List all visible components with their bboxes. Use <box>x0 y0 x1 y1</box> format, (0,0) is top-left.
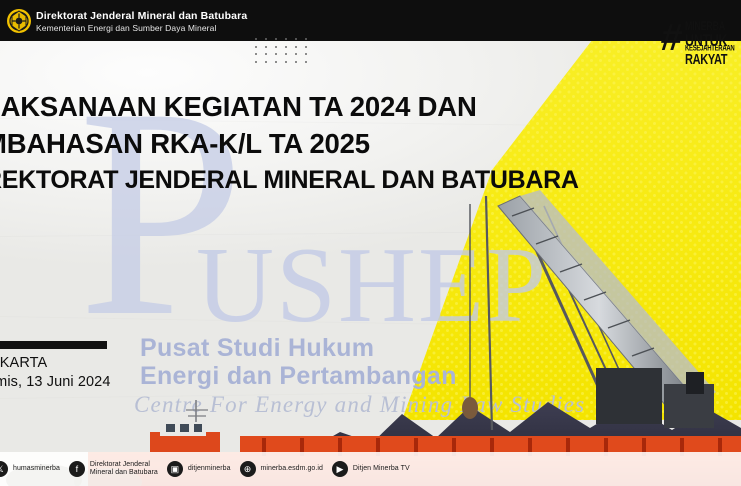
grid-dot <box>305 38 307 40</box>
grid-dot <box>275 38 277 40</box>
social-label: ditjenminerba <box>188 465 231 474</box>
grid-dot <box>255 38 257 40</box>
event-date: amis, 13 Juni 2024 <box>0 374 111 390</box>
social-media-footer: 𝕏humasminerbafDirektorat Jenderal Minera… <box>0 452 741 486</box>
grid-dot <box>295 61 297 63</box>
grid-dot <box>275 53 277 55</box>
twitter-x-icon[interactable]: 𝕏 <box>0 461 8 477</box>
social-item[interactable]: fDirektorat Jenderal Mineral dan Batubar… <box>69 461 158 478</box>
globe-icon[interactable]: ⊕ <box>240 461 256 477</box>
grid-dot <box>275 61 277 63</box>
grid-dot <box>305 61 307 63</box>
youtube-play-icon[interactable]: ▶ <box>332 461 348 477</box>
social-item[interactable]: ⊕minerba.esdm.go.id <box>240 461 323 477</box>
title-divider-rule <box>0 341 107 349</box>
grid-dot <box>285 46 287 48</box>
minerba-hashtag-badge: # MINERBA UNTUK KESEJAHTERAAN RAKYAT <box>661 13 733 63</box>
yellow-beam-graphic <box>0 0 741 486</box>
social-label: Ditjen Minerba TV <box>353 465 410 474</box>
grid-dot <box>285 61 287 63</box>
slide-header-bar: Direktorat Jenderal Mineral dan Batubara… <box>0 0 741 41</box>
grid-dot <box>285 38 287 40</box>
facebook-icon[interactable]: f <box>69 461 85 477</box>
social-label: Direktorat Jenderal Mineral dan Batubara <box>90 461 158 478</box>
grid-dot <box>295 46 297 48</box>
title-line-2: MBAHASAN RKA-K/L TA 2025 <box>0 125 584 162</box>
ministry-name: Kementerian Energi dan Sumber Daya Miner… <box>36 23 216 33</box>
grid-dot <box>295 53 297 55</box>
grid-dot <box>275 46 277 48</box>
esdm-emblem-icon <box>6 8 32 34</box>
ministry-directorate-name: Direktorat Jenderal Mineral dan Batubara <box>36 10 247 22</box>
title-line-1: LAKSANAAN KEGIATAN TA 2024 DAN <box>0 88 584 125</box>
presentation-slide: P USHEP Pusat Studi Hukum Energi dan Per… <box>0 0 741 486</box>
grid-dot <box>285 53 287 55</box>
grid-dot <box>255 61 257 63</box>
grid-dot <box>305 53 307 55</box>
social-label: minerba.esdm.go.id <box>261 465 323 474</box>
page-title: LAKSANAAN KEGIATAN TA 2024 DAN MBAHASAN … <box>0 88 584 199</box>
badge-line-rakyat: RAKYAT <box>685 52 727 68</box>
event-place: AKARTA <box>0 355 47 371</box>
grid-dot <box>295 38 297 40</box>
grid-dot <box>265 53 267 55</box>
social-label: humasminerba <box>13 465 60 474</box>
grid-dot <box>265 46 267 48</box>
hash-icon: # <box>659 19 684 57</box>
grid-dot <box>255 46 257 48</box>
dot-grid-icon <box>255 38 317 68</box>
instagram-icon[interactable]: ▣ <box>167 461 183 477</box>
title-line-3: REKTORAT JENDERAL MINERAL DAN BATUBARA <box>0 162 584 199</box>
grid-dot <box>265 61 267 63</box>
social-item[interactable]: ▶Ditjen Minerba TV <box>332 461 410 477</box>
social-item[interactable]: ▣ditjenminerba <box>167 461 231 477</box>
grid-dot <box>265 38 267 40</box>
grid-dot <box>255 53 257 55</box>
social-item[interactable]: 𝕏humasminerba <box>0 461 60 477</box>
grid-dot <box>305 46 307 48</box>
